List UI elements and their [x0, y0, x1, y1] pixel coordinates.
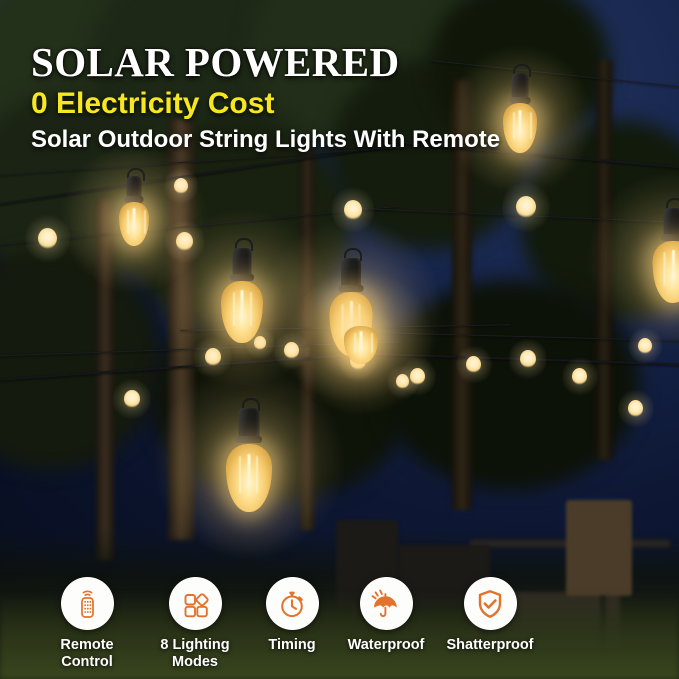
headline-primary: SOLAR POWERED: [31, 40, 651, 84]
bulb-upper-mid: [338, 324, 384, 364]
feature-remote-control: Remote Control: [44, 577, 130, 671]
feature-icon-row: Remote Control 8 Lighting Modes: [26, 577, 656, 671]
feature-label: Timing: [268, 637, 315, 654]
umbrella-waterproof-icon: [360, 577, 413, 630]
bulb-right-edge: [646, 198, 679, 328]
feature-label: Waterproof: [348, 637, 425, 654]
headline-highlight: 0 Electricity Cost: [31, 86, 651, 122]
feature-shatterproof: Shatterproof: [442, 577, 538, 654]
shield-check-icon: [464, 577, 517, 630]
feature-label: 8 Lighting Modes: [160, 637, 229, 671]
bulb-lower-center: [218, 398, 280, 538]
feature-waterproof: Waterproof: [340, 577, 432, 654]
headline-subtitle: Solar Outdoor String Lights With Remote: [31, 125, 651, 155]
feature-label: Shatterproof: [447, 637, 534, 654]
timer-icon: [266, 577, 319, 630]
feature-lighting-modes: 8 Lighting Modes: [146, 577, 244, 671]
lighting-modes-icon: [169, 577, 222, 630]
bulb-upper-left: [114, 168, 154, 278]
product-marketing-image: SOLAR POWERED 0 Electricity Cost Solar O…: [0, 0, 679, 679]
headline-block: SOLAR POWERED 0 Electricity Cost Solar O…: [31, 40, 651, 155]
remote-control-icon: [61, 577, 114, 630]
feature-timing: Timing: [256, 577, 328, 654]
bulb-center-left: [214, 238, 270, 368]
feature-label: Remote Control: [60, 637, 113, 671]
